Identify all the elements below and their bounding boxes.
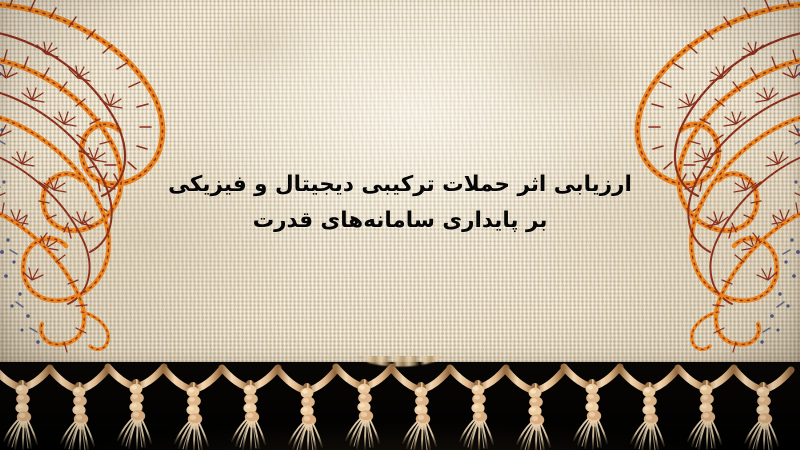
- knotted-tassel-fringe: [0, 360, 800, 450]
- slide-canvas: ارزیابی اثر حملات ترکیبی دیجیتال و فیزیک…: [0, 0, 800, 450]
- slide-title: ارزیابی اثر حملات ترکیبی دیجیتال و فیزیک…: [0, 167, 800, 239]
- title-line-2: بر پایداری سامانه‌های قدرت: [0, 203, 800, 239]
- title-line-1: ارزیابی اثر حملات ترکیبی دیجیتال و فیزیک…: [0, 167, 800, 203]
